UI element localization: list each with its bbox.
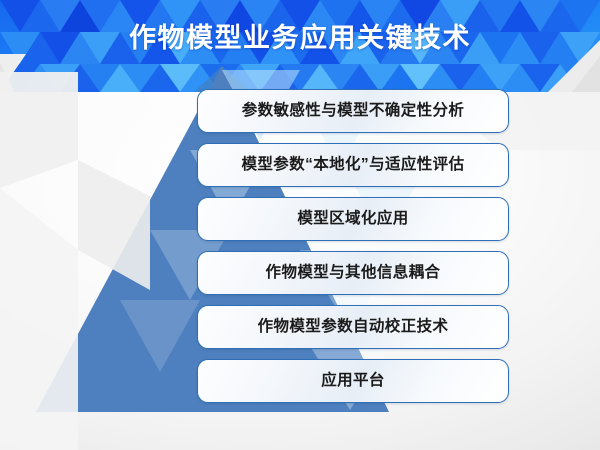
tech-box-label: 作物模型与其他信息耦合 (266, 265, 441, 281)
tech-box-2[interactable]: 模型参数“本地化”与适应性评估 (197, 143, 509, 187)
tech-box-label: 模型参数“本地化”与适应性评估 (241, 157, 464, 173)
tech-box-1[interactable]: 参数敏感性与模型不确定性分析 (197, 89, 509, 133)
title-banner: 作物模型业务应用关键技术 (0, 0, 600, 92)
tech-box-label: 应用平台 (321, 373, 385, 389)
banner-mosaic (0, 0, 600, 92)
tech-box-6[interactable]: 应用平台 (197, 359, 509, 403)
tech-box-3[interactable]: 模型区域化应用 (197, 197, 509, 241)
tech-box-4[interactable]: 作物模型与其他信息耦合 (197, 251, 509, 295)
tech-box-label: 作物模型参数自动校正技术 (258, 319, 449, 335)
tech-box-label: 参数敏感性与模型不确定性分析 (242, 103, 465, 119)
technology-stack: 参数敏感性与模型不确定性分析 模型参数“本地化”与适应性评估 模型区域化应用 作… (197, 89, 509, 403)
tech-box-label: 模型区域化应用 (297, 211, 408, 227)
tech-box-5[interactable]: 作物模型参数自动校正技术 (197, 305, 509, 349)
slide-canvas: 作物模型业务应用关键技术 参数敏感性与模型不确定性分析 模型参数“本地化”与适应… (0, 0, 600, 450)
